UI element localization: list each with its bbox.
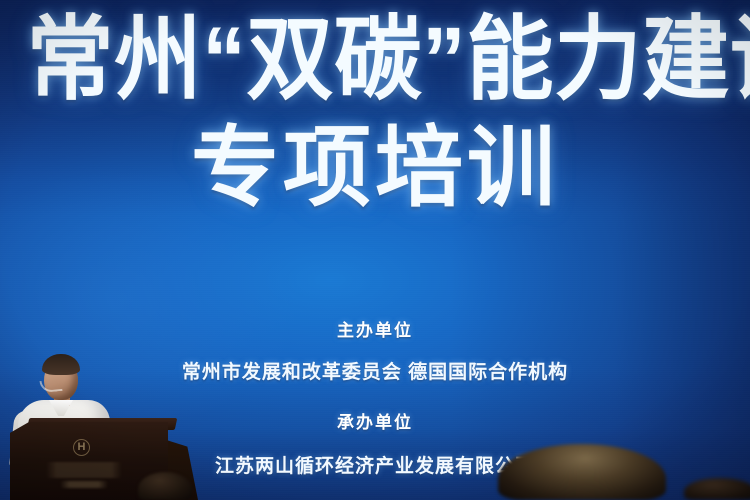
audience-head-left [138,472,192,500]
podium-emblem-icon: H [73,439,90,456]
headset-microphone-icon [39,379,62,393]
banner-title-line-1: 常州“双碳”能力建设 [19,14,732,106]
audience-head-far-right [684,478,750,500]
speaker-hair [42,354,80,375]
conference-photo: 常州“双碳”能力建设 专项培训 主办单位 常州市发展和改革委员会 德国国际合作机… [0,0,750,500]
banner-title-line-2: 专项培训 [0,124,750,212]
podium-nameplate-text-secondary [60,481,108,488]
organizer-heading: 主办单位 [0,322,750,339]
podium-nameplate-text [46,462,122,478]
banner-title-block: 常州“双碳”能力建设 专项培训 [0,14,750,212]
